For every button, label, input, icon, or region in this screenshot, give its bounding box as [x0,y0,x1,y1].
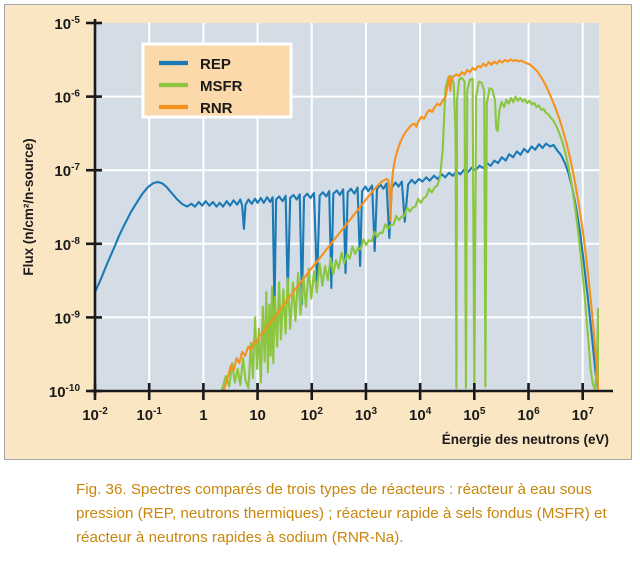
figure-root: 10-510-610-710-810-910-1010-210-11101021… [0,0,640,576]
y-tick-label: 10-6 [54,89,80,107]
x-tick-mantissa: 10 [517,407,534,424]
x-tick-label: 1 [199,407,207,424]
x-tick-label: 10 [249,407,266,424]
y-tick-label: 10-5 [54,15,80,33]
y-tick-exponent: -6 [71,89,80,100]
x-tick-exponent: 7 [588,406,594,417]
y-tick-exponent: -9 [71,309,80,320]
y-axis-title: Flux (n/cm²/n-source) [21,138,36,275]
y-tick-label: 10-8 [54,236,80,254]
x-tick-mantissa: 10 [572,407,589,424]
x-tick-exponent: 6 [534,406,540,417]
x-tick-exponent: -2 [99,406,108,417]
x-tick-exponent: 2 [317,406,323,417]
x-tick-mantissa: 10 [355,407,372,424]
x-tick-mantissa: 1 [199,407,207,424]
x-tick-label: 104 [409,406,432,424]
x-tick-label: 105 [463,406,486,424]
y-tick-mantissa: 10 [54,163,71,180]
x-tick-mantissa: 10 [82,407,99,424]
x-tick-mantissa: 10 [249,407,266,424]
x-tick-exponent: -1 [153,406,162,417]
x-tick-mantissa: 10 [409,407,426,424]
x-tick-mantissa: 10 [136,407,153,424]
y-tick-exponent: -10 [66,383,81,394]
y-tick-label: 10-7 [54,162,80,180]
x-tick-label: 102 [301,406,324,424]
figure-caption: Fig. 36. Spectres comparés de trois type… [76,478,624,551]
y-tick-mantissa: 10 [54,310,71,327]
y-tick-mantissa: 10 [54,16,71,33]
x-tick-label: 10-2 [82,406,108,424]
x-tick-mantissa: 10 [301,407,318,424]
chart-legend: REPMSFRRNR [143,44,291,117]
x-tick-label: 103 [355,406,378,424]
x-tick-exponent: 4 [426,406,432,417]
x-tick-exponent: 3 [372,406,378,417]
y-tick-mantissa: 10 [54,237,71,254]
y-tick-exponent: -7 [71,162,80,173]
figure-panel: 10-510-610-710-810-910-1010-210-11101021… [4,4,632,460]
y-tick-label: 10-9 [54,309,80,327]
y-tick-label: 10-10 [49,383,81,401]
x-axis-title: Énergie des neutrons (eV) [442,432,609,447]
y-tick-mantissa: 10 [49,384,66,401]
legend-label-rep: REP [200,56,231,73]
y-tick-exponent: -5 [71,15,80,26]
y-tick-mantissa: 10 [54,90,71,107]
x-tick-exponent: 5 [480,406,486,417]
x-tick-mantissa: 10 [463,407,480,424]
y-tick-exponent: -8 [71,236,80,247]
x-tick-label: 106 [517,406,540,424]
spectrum-chart: 10-510-610-710-810-910-1010-210-11101021… [5,5,633,461]
x-tick-label: 107 [572,406,595,424]
x-tick-label: 10-1 [136,406,162,424]
legend-label-msfr: MSFR [200,78,243,95]
legend-label-rnr: RNR [200,100,233,117]
